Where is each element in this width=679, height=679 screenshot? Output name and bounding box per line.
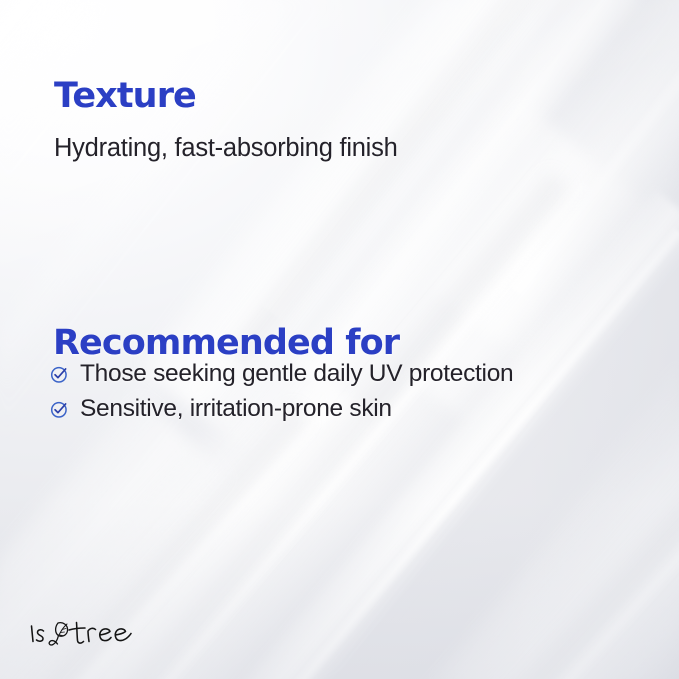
recommended-benefit-list: Those seeking gentle daily UV protection… xyxy=(49,356,513,426)
list-item: Those seeking gentle daily UV protection xyxy=(49,356,513,391)
list-item-label: Sensitive, irritation-prone skin xyxy=(80,395,392,423)
list-item: Sensitive, irritation-prone skin xyxy=(49,391,513,426)
texture-section-subtitle: Hydrating, fast-absorbing finish xyxy=(54,134,398,163)
check-circle-icon xyxy=(49,364,70,385)
leaf-icon xyxy=(49,623,67,645)
product-detail-card: Texture Hydrating, fast-absorbing finish… xyxy=(0,0,679,679)
check-circle-icon xyxy=(49,399,70,420)
texture-section-title: Texture xyxy=(54,79,196,114)
list-item-label: Those seeking gentle daily UV protection xyxy=(80,360,513,388)
brand-logo xyxy=(27,613,149,653)
